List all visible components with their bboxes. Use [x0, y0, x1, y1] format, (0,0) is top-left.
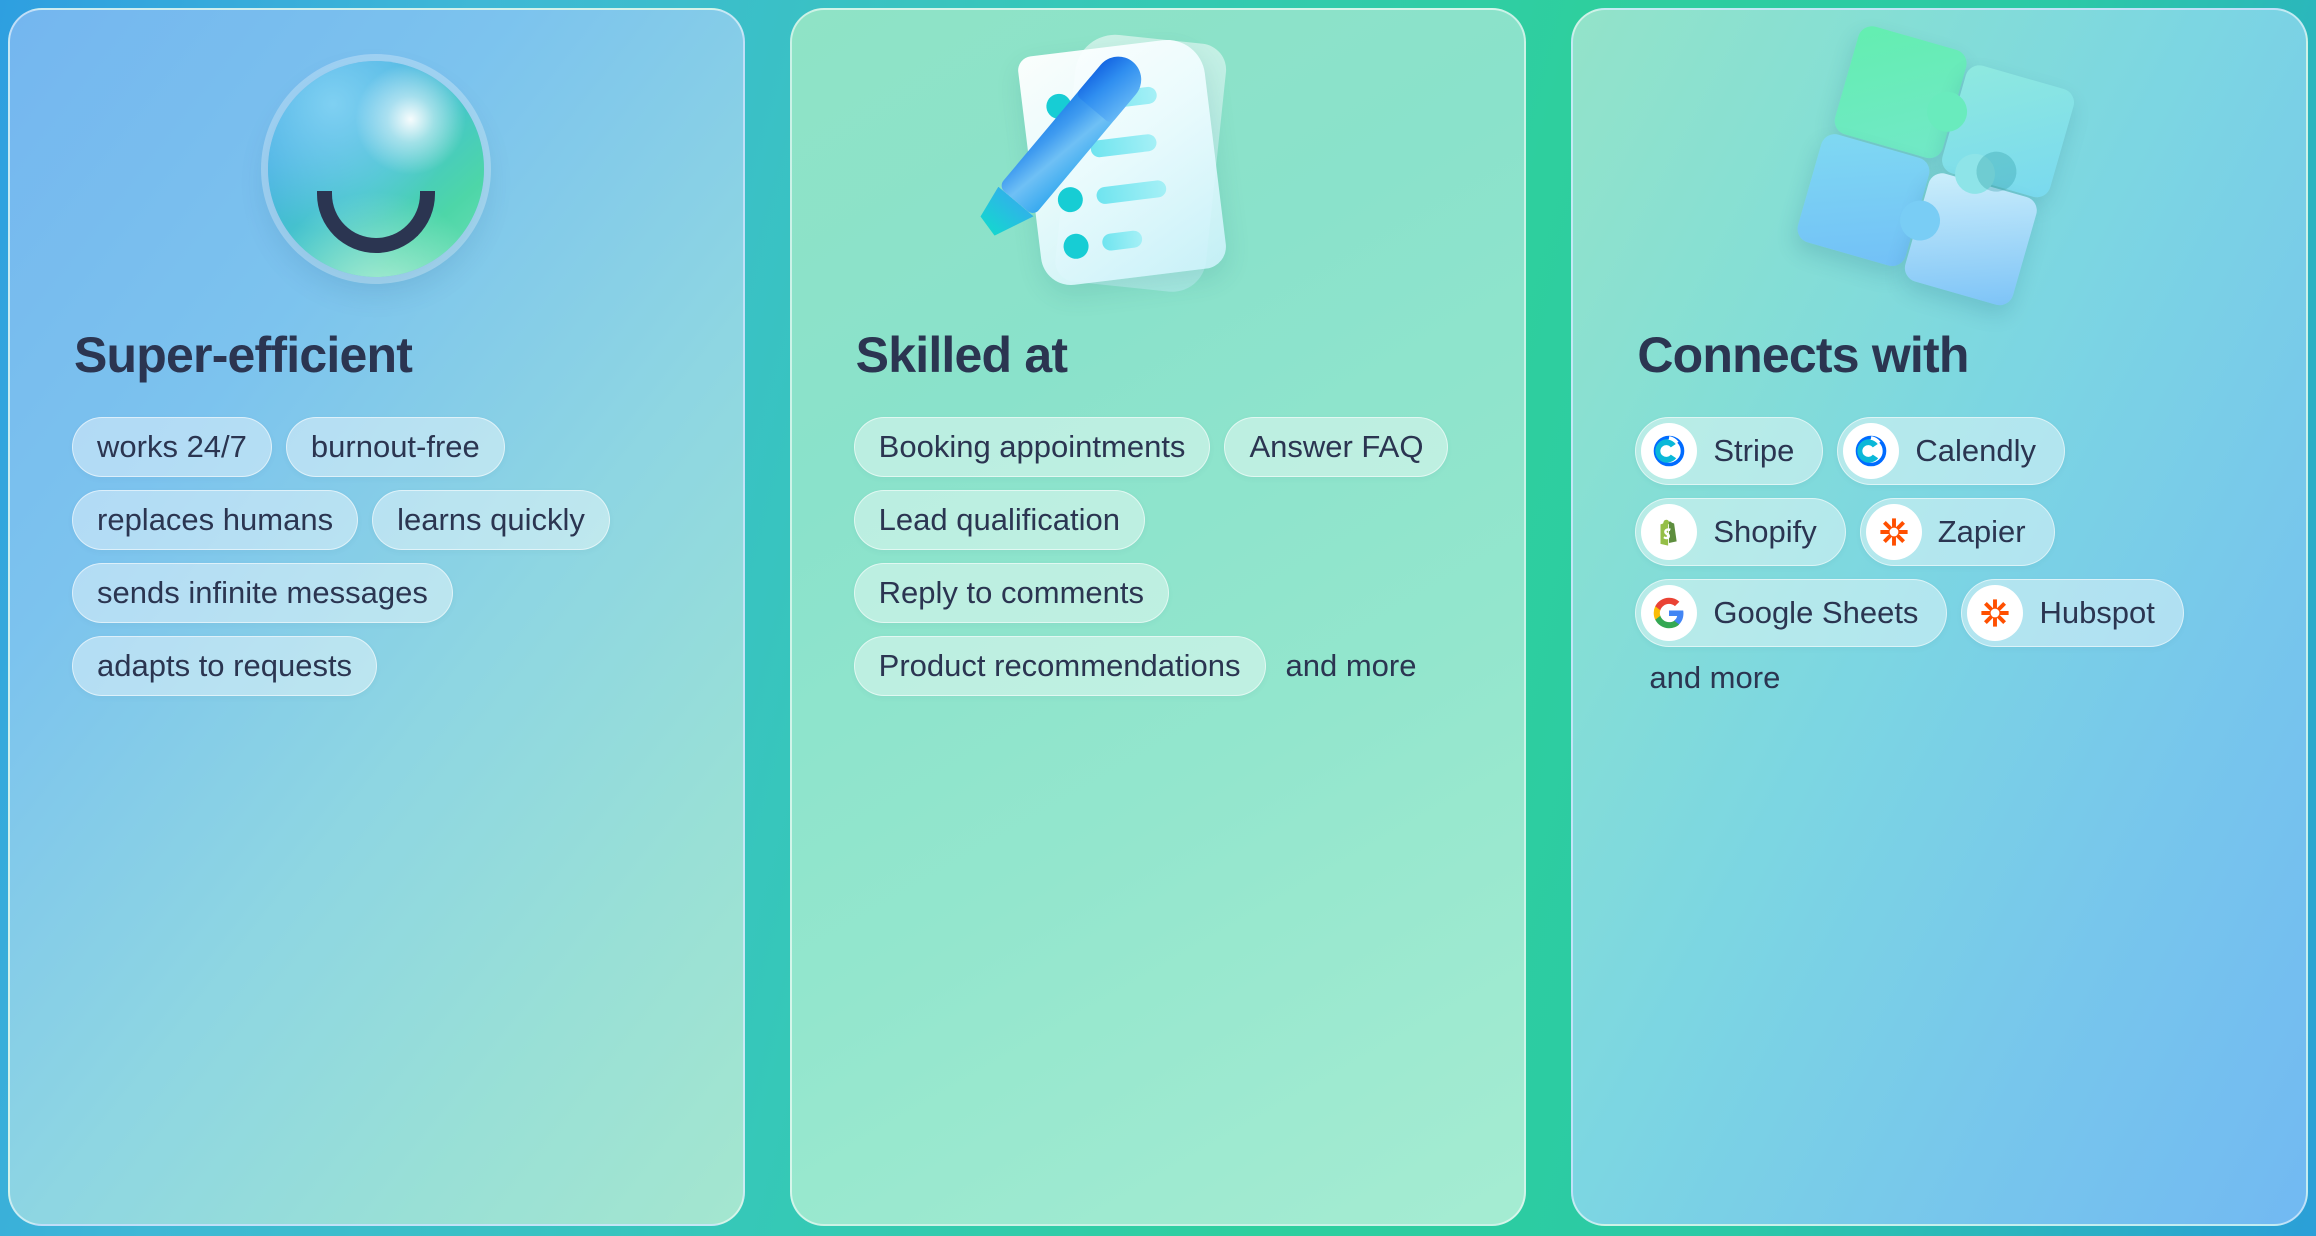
card-title: Skilled at	[854, 328, 1463, 383]
tag-item[interactable]: adapts to requests	[72, 636, 377, 696]
card-skilled-at: Skilled at Booking appointments Answer F…	[790, 8, 1527, 1226]
calendly-logo-icon	[1843, 423, 1899, 479]
tag-item[interactable]: sends infinite messages	[72, 563, 453, 623]
zapier-logo-icon	[1967, 585, 2023, 641]
integration-hubspot[interactable]: Hubspot	[1961, 579, 2183, 647]
card-title: Super-efficient	[72, 328, 681, 383]
integration-calendly[interactable]: Calendly	[1837, 417, 2065, 485]
google-logo-icon	[1641, 585, 1697, 641]
zapier-logo-icon	[1866, 504, 1922, 560]
integration-label: Stripe	[1713, 433, 1794, 469]
tag-item[interactable]: Lead qualification	[854, 490, 1145, 550]
card-connects-with: Connects with Stripe Calendly Shopify	[1571, 8, 2308, 1226]
integration-google-sheets[interactable]: Google Sheets	[1635, 579, 1947, 647]
shopify-logo-icon	[1641, 504, 1697, 560]
integration-label: Hubspot	[2039, 595, 2154, 631]
integration-label: Calendly	[1915, 433, 2036, 469]
tag-item[interactable]: replaces humans	[72, 490, 358, 550]
calendly-logo-icon	[1641, 423, 1697, 479]
smiley-sphere-icon	[72, 10, 681, 328]
tag-list-skilled-at: Booking appointments Answer FAQ Lead qua…	[854, 417, 1463, 696]
integration-label: Google Sheets	[1713, 595, 1918, 631]
feature-cards-row: Super-efficient works 24/7 burnout-free …	[0, 0, 2316, 1236]
tag-item[interactable]: works 24/7	[72, 417, 272, 477]
tag-item[interactable]: Booking appointments	[854, 417, 1211, 477]
integration-label: Shopify	[1713, 514, 1816, 550]
tag-item[interactable]: burnout-free	[286, 417, 505, 477]
card-title: Connects with	[1635, 328, 2244, 383]
tag-item[interactable]: Product recommendations	[854, 636, 1266, 696]
integration-stripe[interactable]: Stripe	[1635, 417, 1823, 485]
tag-item[interactable]: learns quickly	[372, 490, 610, 550]
integration-zapier[interactable]: Zapier	[1860, 498, 2055, 566]
tag-item[interactable]: Reply to comments	[854, 563, 1169, 623]
puzzle-pieces-icon	[1635, 10, 2244, 328]
integration-list: Stripe Calendly Shopify Zapier	[1635, 417, 2244, 696]
and-more-label: and more	[1280, 648, 1423, 684]
integration-shopify[interactable]: Shopify	[1635, 498, 1845, 566]
tag-list-super-efficient: works 24/7 burnout-free replaces humans …	[72, 417, 681, 696]
integration-label: Zapier	[1938, 514, 2026, 550]
card-super-efficient: Super-efficient works 24/7 burnout-free …	[8, 8, 745, 1226]
tag-item[interactable]: Answer FAQ	[1224, 417, 1448, 477]
document-pen-icon	[854, 10, 1463, 328]
and-more-label: and more	[1635, 660, 1786, 696]
